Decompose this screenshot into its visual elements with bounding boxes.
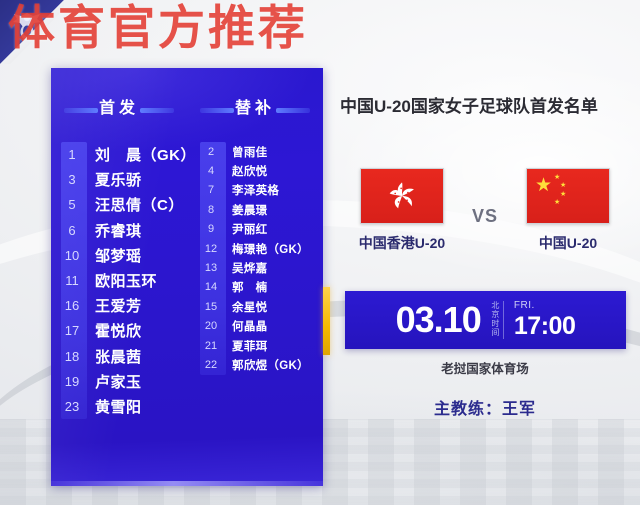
- player-name: 李泽英格: [232, 182, 279, 198]
- header-bar-right: [276, 108, 310, 113]
- substitutes-list: 2曾雨佳4赵欣悦7李泽英格8姜晨璟9尹丽红12梅璟艳（GK）13吴烨嘉14郭 楠…: [196, 142, 323, 375]
- matchup-teams: 中国香港U-20 VS ★ ★ ★ ★ ★ 中国U-20: [340, 168, 630, 253]
- home-team: 中国香港U-20: [348, 168, 456, 253]
- china-flag-icon: ★ ★ ★ ★ ★: [526, 168, 610, 224]
- player-name: 邹梦瑶: [95, 245, 142, 266]
- player-row: 22郭欣煜（GK）: [196, 355, 323, 374]
- player-row: 23黄雪阳: [57, 394, 196, 419]
- player-row: 17霍悦欣: [57, 318, 196, 343]
- player-number: 3: [57, 172, 87, 187]
- player-number: 14: [196, 281, 226, 293]
- home-team-name: 中国香港U-20: [348, 233, 456, 253]
- player-number: 15: [196, 301, 226, 313]
- player-number: 9: [196, 223, 226, 235]
- player-row: 6乔睿琪: [57, 218, 196, 243]
- player-name: 郭欣煜（GK）: [232, 357, 309, 373]
- weekday-label: FRI.: [514, 301, 535, 311]
- subs-header: 替补: [187, 94, 323, 118]
- player-row: 15余星悦: [196, 297, 323, 316]
- vs-label: VS: [472, 206, 498, 227]
- venue-label: 老挝国家体育场: [340, 358, 630, 377]
- player-number: 17: [57, 323, 87, 338]
- player-name: 赵欣悦: [232, 163, 267, 179]
- player-name: 刘 晨（GK）: [95, 144, 196, 165]
- player-number: 1: [57, 147, 87, 162]
- flag-star-large: ★: [535, 176, 552, 195]
- timezone-label: 北京时间: [491, 301, 504, 339]
- player-name: 卢家玉: [95, 371, 142, 392]
- player-number: 4: [196, 165, 226, 177]
- bauhinia-emblem-icon: [385, 179, 419, 213]
- page-title: 中国U-20国家女子足球队首发名单: [340, 92, 598, 117]
- lineup-panel: 首发 替补 1刘 晨（GK）3夏乐骄5汪思倩（C）6乔睿琪10邹梦瑶11欧阳玉环…: [51, 68, 323, 486]
- player-row: 9尹丽红: [196, 220, 323, 239]
- kickoff-time: 17:00: [514, 314, 575, 339]
- panel-footer-glow: [51, 481, 323, 486]
- player-name: 王爱芳: [95, 295, 142, 316]
- player-number: 18: [57, 349, 87, 364]
- player-number: 13: [196, 262, 226, 274]
- player-number: 8: [196, 204, 226, 216]
- lineup-columns: 1刘 晨（GK）3夏乐骄5汪思倩（C）6乔睿琪10邹梦瑶11欧阳玉环16王爱芳1…: [51, 142, 323, 486]
- player-row: 19卢家玉: [57, 369, 196, 394]
- header-bar-right: [140, 108, 174, 113]
- player-name: 张晨茜: [95, 346, 142, 367]
- starters-column: 1刘 晨（GK）3夏乐骄5汪思倩（C）6乔睿琪10邹梦瑶11欧阳玉环16王爱芳1…: [51, 142, 196, 486]
- player-name: 欧阳玉环: [95, 270, 157, 291]
- player-row: 5汪思倩（C）: [57, 192, 196, 217]
- player-row: 12梅璟艳（GK）: [196, 239, 323, 258]
- flag-star-3: ★: [560, 191, 566, 198]
- player-number: 23: [57, 399, 87, 414]
- player-number: 7: [196, 184, 226, 196]
- hong-kong-flag-icon: [360, 168, 444, 224]
- player-row: 7李泽英格: [196, 181, 323, 200]
- starters-header: 首发: [51, 94, 187, 118]
- subs-header-label: 替补: [235, 100, 275, 117]
- player-row: 8姜晨璟: [196, 200, 323, 219]
- player-name: 何晶晶: [232, 318, 267, 334]
- kickoff-block: FRI. 17:00: [514, 301, 575, 339]
- player-number: 6: [57, 223, 87, 238]
- player-name: 夏菲珥: [232, 338, 267, 354]
- player-name: 霍悦欣: [95, 320, 142, 341]
- player-number: 20: [196, 320, 226, 332]
- away-team-name: 中国U-20: [514, 233, 622, 253]
- substitutes-column: 2曾雨佳4赵欣悦7李泽英格8姜晨璟9尹丽红12梅璟艳（GK）13吴烨嘉14郭 楠…: [196, 142, 323, 486]
- player-number: 22: [196, 359, 226, 371]
- player-name: 梅璟艳（GK）: [232, 241, 309, 257]
- player-row: 10邹梦瑶: [57, 243, 196, 268]
- player-row: 2曾雨佳: [196, 142, 323, 161]
- player-number: 16: [57, 298, 87, 313]
- player-name: 乔睿琪: [95, 220, 142, 241]
- player-row: 1刘 晨（GK）: [57, 142, 196, 167]
- player-number: 11: [57, 273, 87, 288]
- player-row: 21夏菲珥: [196, 336, 323, 355]
- flag-star-4: ★: [554, 199, 560, 206]
- player-row: 20何晶晶: [196, 317, 323, 336]
- starters-list: 1刘 晨（GK）3夏乐骄5汪思倩（C）6乔睿琪10邹梦瑶11欧阳玉环16王爱芳1…: [57, 142, 196, 419]
- player-name: 尹丽红: [232, 221, 267, 237]
- player-number: 2: [196, 146, 226, 158]
- player-number: 19: [57, 374, 87, 389]
- player-name: 郭 楠: [232, 279, 267, 295]
- gold-accent-bar: [323, 287, 330, 355]
- player-number: 21: [196, 340, 226, 352]
- player-row: 14郭 楠: [196, 278, 323, 297]
- away-team: ★ ★ ★ ★ ★ 中国U-20: [514, 168, 622, 253]
- lineup-headers: 首发 替补: [51, 94, 323, 118]
- player-name: 吴烨嘉: [232, 260, 267, 276]
- player-row: 16王爱芳: [57, 293, 196, 318]
- flag-star-2: ★: [560, 182, 566, 189]
- coach-label: 主教练：王军: [340, 395, 630, 419]
- header-bar-left: [64, 108, 98, 113]
- player-name: 黄雪阳: [95, 396, 142, 417]
- player-number: 5: [57, 197, 87, 212]
- player-name: 曾雨佳: [232, 144, 267, 160]
- header-bar-left: [200, 108, 234, 113]
- match-datetime-bar: 03.10 北京时间 FRI. 17:00: [345, 291, 626, 349]
- player-row: 11欧阳玉环: [57, 268, 196, 293]
- player-name: 夏乐骄: [95, 169, 142, 190]
- player-name: 姜晨璟: [232, 202, 267, 218]
- match-date: 03.10: [396, 302, 481, 338]
- player-row: 4赵欣悦: [196, 161, 323, 180]
- player-number: 12: [196, 243, 226, 255]
- flag-star-1: ★: [554, 174, 560, 181]
- player-name: 余星悦: [232, 299, 267, 315]
- player-row: 18张晨茜: [57, 344, 196, 369]
- player-name: 汪思倩（C）: [95, 194, 184, 215]
- player-number: 10: [57, 248, 87, 263]
- watermark-text: 体育官方推荐: [8, 2, 308, 54]
- starters-header-label: 首发: [99, 100, 139, 117]
- player-row: 13吴烨嘉: [196, 258, 323, 277]
- player-row: 3夏乐骄: [57, 167, 196, 192]
